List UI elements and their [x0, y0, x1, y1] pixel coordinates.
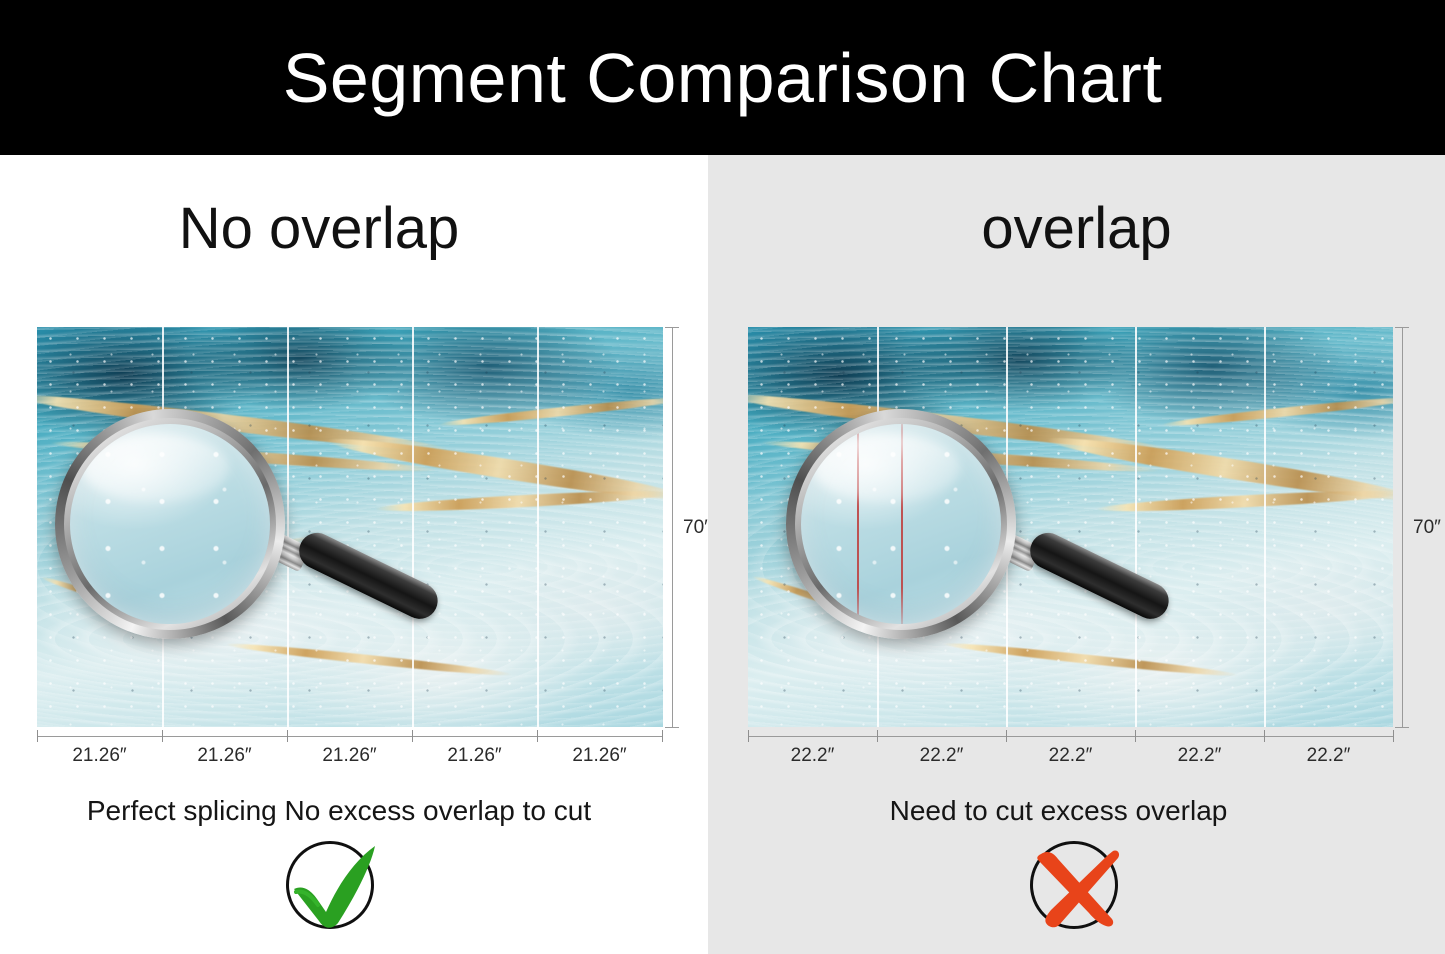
- height-dimension-line-right: [1402, 327, 1403, 727]
- panel-overlap: overlap: [708, 155, 1445, 954]
- segment-label: 22.2″: [877, 746, 1006, 765]
- gold-vein: [50, 437, 438, 475]
- gold-vein: [815, 533, 1030, 594]
- height-dimension-label-right: 70″: [1413, 518, 1441, 537]
- gold-vein: [326, 431, 663, 508]
- ruler-tick: [37, 730, 38, 742]
- height-dimension-cap-bottom-right: [1395, 727, 1409, 728]
- marble-swirl-texture: [748, 327, 1393, 727]
- artwork-no-overlap: [37, 327, 663, 727]
- ruler-tick: [1135, 730, 1136, 742]
- segment-label: 22.2″: [1006, 746, 1135, 765]
- caption-no-overlap: Perfect splicing No excess overlap to cu…: [0, 797, 693, 825]
- segment-label: 21.26″: [37, 746, 162, 765]
- ruler-tick: [877, 730, 878, 742]
- ruler-tick: [662, 730, 663, 742]
- panel-seam: [162, 327, 164, 727]
- gold-vein: [37, 388, 449, 457]
- ruler-tick: [287, 730, 288, 742]
- marble-speckle-texture: [748, 327, 1393, 727]
- height-dimension-label-left: 70″: [683, 518, 711, 537]
- gold-vein: [375, 487, 663, 515]
- marble-speckle-texture: [37, 327, 663, 727]
- ruler-tick: [1006, 730, 1007, 742]
- marble-swirl-texture: [37, 327, 663, 727]
- segment-label: 22.2″: [1264, 746, 1393, 765]
- gold-vein: [748, 388, 1173, 459]
- panel-no-overlap: No overlap: [0, 155, 708, 954]
- marble-mural-right: [748, 327, 1393, 727]
- cross-icon: [1020, 837, 1138, 933]
- segment-ruler-right: [748, 736, 1393, 737]
- gold-vein: [1096, 487, 1393, 515]
- poster-root: Segment Comparison Chart No overlap: [0, 0, 1445, 954]
- verdict-check: [276, 837, 394, 933]
- ruler-tick: [748, 730, 749, 742]
- panel-seam: [537, 327, 539, 727]
- gold-vein: [102, 533, 310, 592]
- segment-label: 21.26″: [412, 746, 537, 765]
- page-title: Segment Comparison Chart: [283, 43, 1163, 113]
- ruler-tick: [162, 730, 163, 742]
- gold-vein: [40, 574, 197, 631]
- verdict-cross: [1020, 837, 1138, 933]
- gold-vein: [761, 437, 1161, 476]
- segment-ruler-left: [37, 736, 663, 737]
- panel-seam: [1264, 327, 1266, 727]
- height-dimension-cap-top-right: [1395, 327, 1409, 328]
- gold-vein: [438, 394, 663, 429]
- panel-seam: [877, 327, 879, 727]
- gold-vein: [1045, 430, 1393, 508]
- ruler-tick: [537, 730, 538, 742]
- ruler-tick: [1264, 730, 1265, 742]
- title-banner: Segment Comparison Chart: [0, 0, 1445, 155]
- panel-heading-overlap: overlap: [708, 200, 1445, 258]
- ruler-tick: [412, 730, 413, 742]
- gold-vein: [1161, 394, 1393, 430]
- marble-mural-left: [37, 327, 663, 727]
- gold-vein: [942, 640, 1238, 680]
- ruler-tick: [1393, 730, 1394, 742]
- segment-label: 21.26″: [162, 746, 287, 765]
- segment-label: 21.26″: [287, 746, 412, 765]
- panel-seam: [1006, 327, 1008, 727]
- panel-seam: [1135, 327, 1137, 727]
- panel-seam: [412, 327, 414, 727]
- gold-vein: [751, 573, 913, 631]
- height-dimension-line-left: [672, 327, 673, 727]
- segment-label: 22.2″: [748, 746, 877, 765]
- caption-overlap: Need to cut excess overlap: [690, 797, 1427, 825]
- check-icon: [276, 837, 394, 933]
- segment-label: 22.2″: [1135, 746, 1264, 765]
- segment-label: 21.26″: [537, 746, 662, 765]
- panel-heading-no-overlap: No overlap: [0, 200, 673, 258]
- height-dimension-cap-bottom-left: [665, 727, 679, 728]
- panel-seam: [287, 327, 289, 727]
- gold-vein: [225, 640, 512, 679]
- artwork-overlap: [748, 327, 1393, 727]
- height-dimension-cap-top-left: [665, 327, 679, 328]
